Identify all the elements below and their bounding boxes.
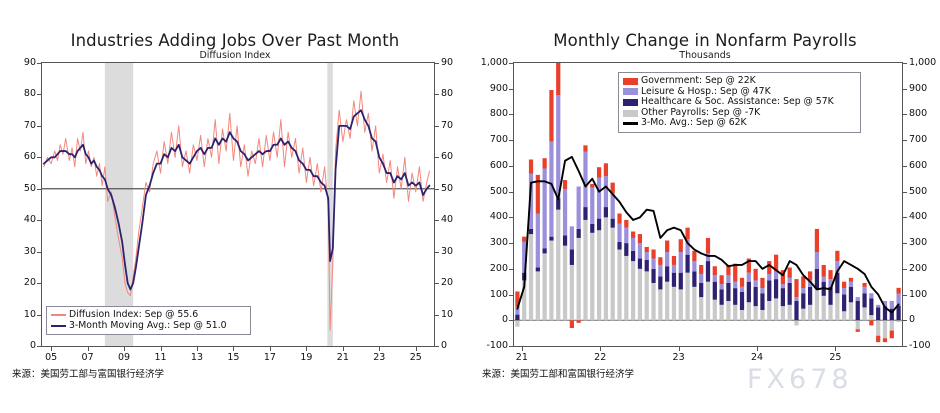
axis-tick (757, 347, 758, 351)
legend-label: Diffusion Index: Sep @ 55.6 (69, 310, 198, 321)
right-chart-legend: Government: Sep @ 22K Leisure & Hosp.: S… (618, 72, 861, 133)
y-tick-label: 700 (470, 134, 508, 145)
y-tick-label: 900 (470, 83, 508, 94)
legend-item-moving-average: 3-Month Moving Avg.: Sep @ 51.0 (51, 321, 245, 332)
axis-tick (903, 63, 907, 64)
left-chart-panel: Industries Adding Jobs Over Past Month D… (0, 0, 470, 413)
x-tick-label: 19 (292, 352, 320, 363)
axis-tick (903, 320, 907, 321)
axis-tick (600, 347, 601, 351)
left-plot-area (41, 62, 435, 347)
government-swatch-icon (623, 78, 638, 85)
axis-tick (37, 252, 41, 253)
y-tick-label: 70 (10, 120, 36, 131)
axis-tick (435, 157, 439, 158)
y-tick-label: 800 (909, 108, 940, 119)
x-tick-label: 25 (821, 352, 849, 363)
right-chart-source: 来源：美国劳工部和富国银行经济学 (482, 366, 634, 380)
axis-tick (37, 63, 41, 64)
x-tick-label: 15 (219, 352, 247, 363)
y-tick-label: 0 (909, 314, 940, 325)
axis-tick (509, 243, 513, 244)
legend-label: 3-Mo. Avg.: Sep @ 62K (641, 118, 747, 129)
x-tick-label: 05 (37, 352, 65, 363)
axis-tick (903, 140, 907, 141)
axis-tick (37, 157, 41, 158)
axis-tick (509, 346, 513, 347)
y-tick-label: 0 (10, 340, 36, 351)
axis-tick (416, 347, 417, 351)
axis-tick (37, 94, 41, 95)
axis-tick (509, 295, 513, 296)
y-tick-label: -100 (470, 340, 508, 351)
other-payrolls-swatch-icon (623, 110, 638, 117)
three-month-avg-swatch-icon (623, 122, 638, 124)
y-tick-label: 500 (909, 186, 940, 197)
left-chart-source: 来源：美国劳工部与富国银行经济学 (12, 366, 164, 380)
axis-tick (509, 217, 513, 218)
axis-tick (509, 320, 513, 321)
right-chart-title: Monthly Change in Nonfarm Payrolls (470, 31, 940, 50)
y-tick-label: 1,000 (470, 57, 508, 68)
y-tick-label: 70 (441, 120, 467, 131)
x-tick-label: 21 (329, 352, 357, 363)
axis-tick (306, 347, 307, 351)
axis-tick (88, 347, 89, 351)
x-tick-label: 21 (508, 352, 536, 363)
legend-item-government: Government: Sep @ 22K (623, 76, 855, 87)
y-tick-label: 60 (441, 151, 467, 162)
fx678-watermark: FX678 (747, 364, 853, 395)
legend-label: Government: Sep @ 22K (641, 76, 756, 87)
y-tick-label: 300 (909, 237, 940, 248)
y-tick-label: 50 (10, 183, 36, 194)
left-chart-title: Industries Adding Jobs Over Past Month (0, 31, 470, 50)
axis-tick (435, 94, 439, 95)
y-tick-label: 0 (441, 340, 467, 351)
axis-tick (903, 192, 907, 193)
axis-tick (197, 347, 198, 351)
axis-tick (522, 347, 523, 351)
y-tick-label: 80 (441, 88, 467, 99)
y-tick-label: 800 (470, 108, 508, 119)
axis-tick (37, 189, 41, 190)
axis-tick (37, 283, 41, 284)
x-tick-label: 17 (256, 352, 284, 363)
axis-tick (435, 252, 439, 253)
axis-tick (509, 269, 513, 270)
axis-tick (51, 347, 52, 351)
x-tick-label: 23 (665, 352, 693, 363)
axis-tick (435, 283, 439, 284)
axis-tick (903, 89, 907, 90)
y-tick-label: 10 (441, 309, 467, 320)
y-tick-label: 100 (909, 289, 940, 300)
y-tick-label: 80 (10, 88, 36, 99)
y-tick-label: -100 (909, 340, 940, 351)
axis-tick (37, 126, 41, 127)
right-chart-panel: Monthly Change in Nonfarm Payrolls Thous… (470, 0, 940, 413)
y-tick-label: 900 (909, 83, 940, 94)
x-tick-label: 09 (110, 352, 138, 363)
y-tick-label: 200 (470, 263, 508, 274)
axis-tick (903, 269, 907, 270)
axis-tick (835, 347, 836, 351)
y-tick-label: 30 (10, 246, 36, 257)
diffusion-index-swatch-icon (51, 314, 66, 316)
axis-tick (509, 192, 513, 193)
y-tick-label: 300 (470, 237, 508, 248)
x-tick-label: 11 (147, 352, 175, 363)
y-tick-label: 50 (441, 183, 467, 194)
axis-tick (435, 315, 439, 316)
y-tick-label: 20 (441, 277, 467, 288)
x-tick-label: 07 (74, 352, 102, 363)
axis-tick (37, 315, 41, 316)
axis-tick (435, 220, 439, 221)
axis-tick (435, 126, 439, 127)
x-tick-label: 24 (743, 352, 771, 363)
axis-tick (509, 166, 513, 167)
y-tick-label: 400 (470, 211, 508, 222)
left-chart-subtitle: Diffusion Index (0, 50, 470, 61)
y-tick-label: 700 (909, 134, 940, 145)
y-tick-label: 10 (10, 309, 36, 320)
axis-tick (903, 346, 907, 347)
axis-tick (161, 347, 162, 351)
y-tick-label: 600 (470, 160, 508, 171)
axis-tick (903, 166, 907, 167)
axis-tick (435, 189, 439, 190)
axis-tick (270, 347, 271, 351)
x-tick-label: 25 (402, 352, 430, 363)
axis-tick (379, 347, 380, 351)
y-tick-label: 90 (441, 57, 467, 68)
axis-tick (233, 347, 234, 351)
axis-tick (435, 346, 439, 347)
left-chart-legend: Diffusion Index: Sep @ 55.6 3-Month Movi… (46, 306, 251, 335)
axis-tick (903, 243, 907, 244)
y-tick-label: 40 (441, 214, 467, 225)
axis-tick (435, 63, 439, 64)
legend-label: 3-Month Moving Avg.: Sep @ 51.0 (69, 321, 227, 332)
axis-tick (903, 114, 907, 115)
axis-tick (509, 114, 513, 115)
x-tick-label: 13 (183, 352, 211, 363)
healthcare-swatch-icon (623, 99, 638, 106)
dual-chart-figure: Industries Adding Jobs Over Past Month D… (0, 0, 940, 413)
axis-tick (903, 217, 907, 218)
axis-tick (679, 347, 680, 351)
axis-tick (37, 220, 41, 221)
axis-tick (124, 347, 125, 351)
y-tick-label: 400 (909, 211, 940, 222)
y-tick-label: 600 (909, 160, 940, 171)
axis-tick (509, 89, 513, 90)
y-tick-label: 30 (441, 246, 467, 257)
y-tick-label: 90 (10, 57, 36, 68)
y-tick-label: 20 (10, 277, 36, 288)
x-tick-label: 23 (365, 352, 393, 363)
leisure-swatch-icon (623, 88, 638, 95)
right-chart-subtitle: Thousands (470, 50, 940, 61)
y-tick-label: 500 (470, 186, 508, 197)
y-tick-label: 200 (909, 263, 940, 274)
y-tick-label: 0 (470, 314, 508, 325)
legend-item-diffusion-index: Diffusion Index: Sep @ 55.6 (51, 310, 245, 321)
legend-item-three-month-average: 3-Mo. Avg.: Sep @ 62K (623, 118, 855, 129)
y-tick-label: 40 (10, 214, 36, 225)
axis-tick (903, 295, 907, 296)
axis-tick (509, 140, 513, 141)
moving-average-swatch-icon (51, 325, 66, 328)
x-tick-label: 22 (586, 352, 614, 363)
y-tick-label: 60 (10, 151, 36, 162)
axis-tick (37, 346, 41, 347)
y-tick-label: 100 (470, 289, 508, 300)
y-tick-label: 1,000 (909, 57, 940, 68)
axis-tick (343, 347, 344, 351)
axis-tick (509, 63, 513, 64)
